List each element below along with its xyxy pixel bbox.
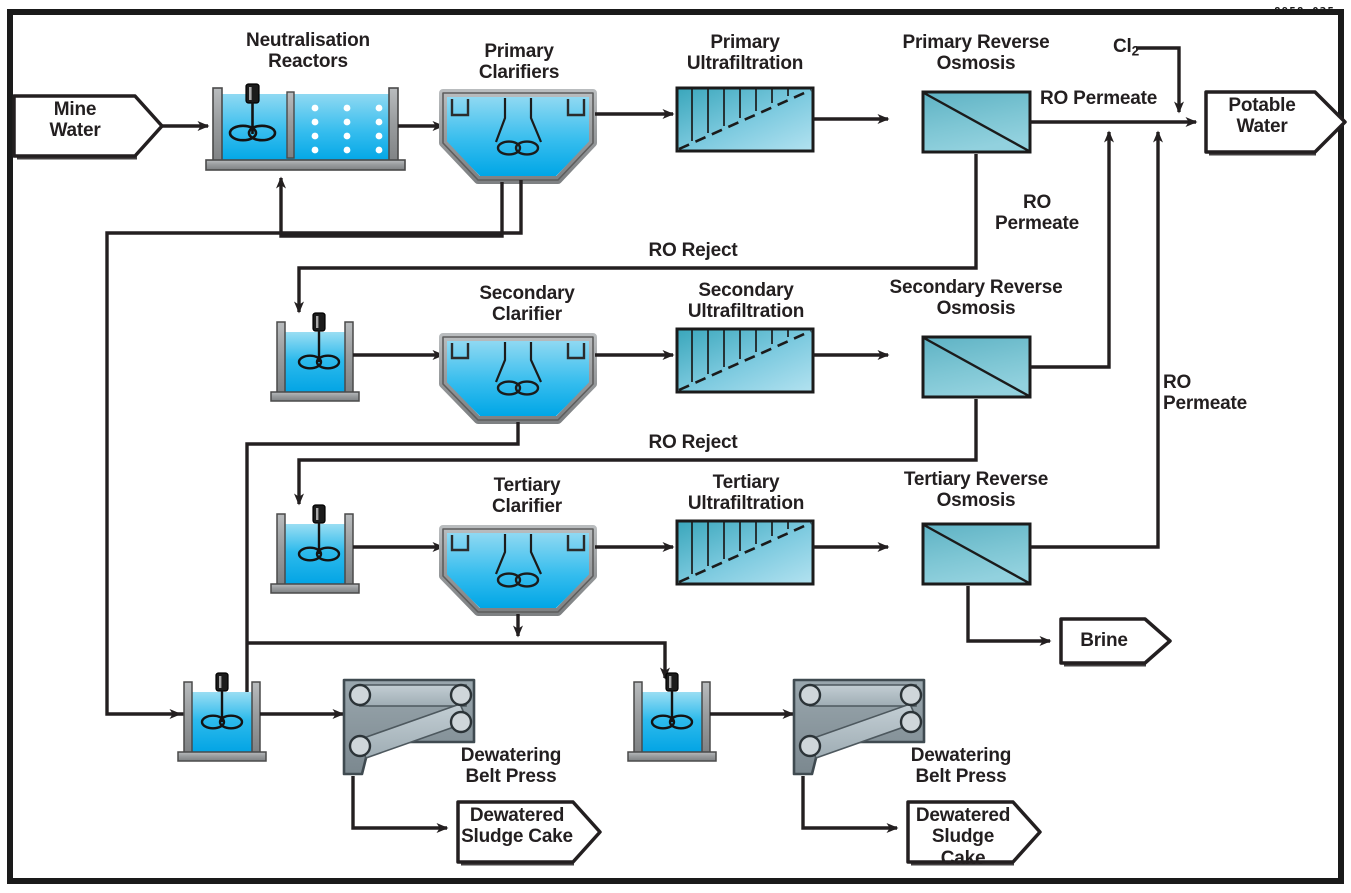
sludge-tank-1-unit bbox=[178, 673, 266, 761]
ro-permeate-inline-label: RO Permeate bbox=[1040, 89, 1190, 110]
tertiary-clarifier-unit bbox=[443, 529, 593, 612]
ro-permeate-label-secondary: RO Permeate bbox=[985, 193, 1089, 234]
primary-ultrafiltration-label: Primary Ultrafiltration bbox=[668, 33, 822, 74]
dewatering-belt-press-2-label: Dewatering Belt Press bbox=[878, 746, 1044, 787]
chlorine-subscript: 2 bbox=[1132, 43, 1139, 58]
primary-ultrafiltration-unit bbox=[677, 88, 813, 151]
chlorine-label: Cl2 bbox=[1079, 36, 1139, 59]
brine-label: Brine bbox=[1061, 630, 1147, 651]
tertiary-reverse-osmosis-unit bbox=[923, 524, 1030, 584]
secondary-reverse-osmosis-unit bbox=[923, 337, 1030, 397]
primary-clarifier-sludge-line bbox=[107, 180, 521, 714]
dewatering-belt-press-1-label: Dewatering Belt Press bbox=[428, 746, 594, 787]
chlorine-symbol: Cl bbox=[1113, 36, 1132, 57]
secondary-reverse-osmosis-label: Secondary Reverse Osmosis bbox=[860, 278, 1092, 319]
primary-clarifiers-label: Primary Clarifiers bbox=[448, 42, 590, 83]
secondary-ultrafiltration-unit bbox=[677, 329, 813, 392]
drawing-number: 8958-025 bbox=[1274, 5, 1335, 18]
secondary-ultrafiltration-label: Secondary Ultrafiltration bbox=[662, 281, 830, 322]
secondary-clarifier-unit bbox=[443, 337, 593, 420]
primary-clarifiers-unit bbox=[443, 93, 593, 180]
ro-reject-label-primary: RO Reject bbox=[630, 241, 756, 262]
mine-water-label: Mine Water bbox=[14, 99, 136, 142]
tertiary-clarifier-sludge-line bbox=[247, 614, 665, 678]
secondary-ro-permeate-line bbox=[1030, 132, 1109, 367]
diagram-canvas: 8958-025 Mine Water Potable Water Brine … bbox=[0, 0, 1351, 893]
sludge-tank-2-unit bbox=[628, 673, 716, 761]
ro-permeate-label-tertiary: RO Permeate bbox=[1163, 373, 1277, 414]
tertiary-ultrafiltration-unit bbox=[677, 521, 813, 584]
tertiary-mix-tank-unit bbox=[271, 505, 359, 593]
ro-reject-label-secondary: RO Reject bbox=[630, 433, 756, 454]
tertiary-clarifier-label: Tertiary Clarifier bbox=[452, 476, 602, 517]
primary-reverse-osmosis-unit bbox=[923, 92, 1030, 152]
primary-reverse-osmosis-label: Primary Reverse Osmosis bbox=[872, 33, 1080, 74]
neutralisation-reactors-label: Neutralisation Reactors bbox=[222, 31, 394, 72]
secondary-mix-tank-unit bbox=[271, 313, 359, 401]
tertiary-brine-line bbox=[968, 586, 1050, 641]
neutralisation-reactors-unit bbox=[206, 84, 405, 170]
tertiary-reverse-osmosis-label: Tertiary Reverse Osmosis bbox=[868, 470, 1084, 511]
tertiary-ultrafiltration-label: Tertiary Ultrafiltration bbox=[662, 473, 830, 514]
secondary-clarifier-label: Secondary Clarifier bbox=[452, 284, 602, 325]
dewatered-sludge-cake-1-label: Dewatered Sludge Cake bbox=[458, 805, 576, 848]
dewatered-sludge-cake-2-label: Dewatered Sludge Cake bbox=[908, 805, 1018, 869]
neutralisation-recycle-line bbox=[281, 178, 502, 236]
potable-water-label: Potable Water bbox=[1206, 95, 1318, 138]
